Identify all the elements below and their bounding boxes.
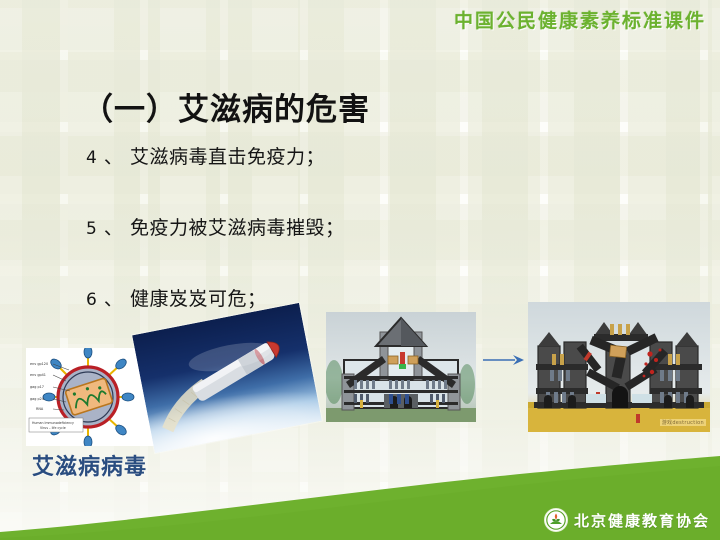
course-header-title: 中国公民健康素养标准课件 (454, 6, 706, 33)
transition-arrow (483, 352, 525, 368)
castle-intact-image (326, 312, 476, 422)
bullet-separator: 、 (104, 288, 124, 310)
arrow-right-icon (483, 352, 525, 368)
destroyed-fortress-illustration (528, 302, 710, 432)
hiv-label-gag-p24: gag p24 (30, 397, 44, 401)
bullet-number: 5 (86, 219, 97, 239)
list-item: 4 、 艾滋病毒直击免疫力； (86, 142, 506, 169)
list-item: 5 、 免疫力被艾滋病毒摧毁； (86, 213, 506, 240)
intact-fortress-illustration (326, 312, 476, 422)
hiv-label-env-gp41: env gp41 (30, 373, 46, 377)
bullet-separator: 、 (104, 146, 124, 168)
bullet-number: 6 (86, 290, 97, 310)
bullet-number: 4 (86, 148, 97, 168)
footer-organization-logo: 北京健康教育协会 (544, 508, 710, 532)
slide-canvas: 中国公民健康素养标准课件 （一）艾滋病的危害 4 、 艾滋病毒直击免疫力； 5 … (0, 0, 720, 540)
hiv-label-gag-p17: gag p17 (30, 385, 44, 389)
bullet-text: 艾滋病毒直击免疫力； (130, 146, 325, 168)
bullet-text: 健康岌岌可危； (130, 288, 267, 310)
bullet-text: 免疫力被艾滋病毒摧毁； (130, 217, 345, 239)
page-title: （一）艾滋病的危害 (82, 84, 370, 129)
hiv-label-env-gp120: env gp120 (30, 362, 48, 366)
bullet-separator: 、 (104, 217, 124, 239)
association-emblem-icon (544, 508, 568, 532)
emblem-icon (546, 510, 566, 530)
footer-organization-name: 北京健康教育协会 (574, 510, 710, 531)
hiv-label-rna: RNA (36, 407, 44, 411)
castle-destroyed-image: 游戏destruction (528, 302, 710, 432)
